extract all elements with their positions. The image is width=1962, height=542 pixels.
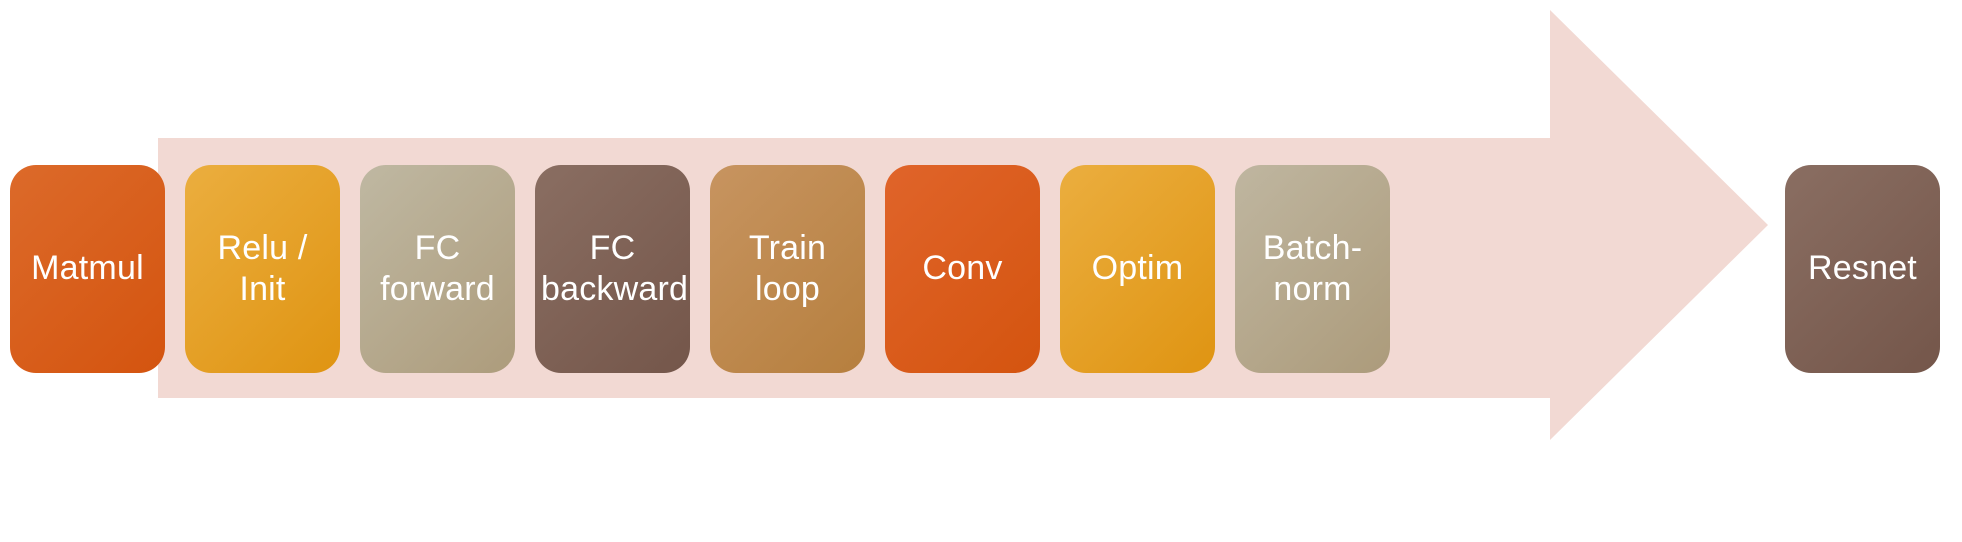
stage-matmul[interactable]: Matmul bbox=[10, 165, 165, 373]
stage-conv[interactable]: Conv bbox=[885, 165, 1040, 373]
stage-optim[interactable]: Optim bbox=[1060, 165, 1215, 373]
stage-relu-init[interactable]: Relu / Init bbox=[185, 165, 340, 373]
stage-label: Conv bbox=[891, 248, 1034, 289]
stage-label: Batch- norm bbox=[1241, 228, 1384, 311]
stage-label: FC forward bbox=[366, 228, 509, 311]
stage-label: Matmul bbox=[16, 248, 159, 289]
diagram-canvas: MatmulRelu / InitFC forwardFC backwardTr… bbox=[0, 0, 1962, 542]
stage-label: FC backward bbox=[541, 228, 684, 311]
stage-train-loop[interactable]: Train loop bbox=[710, 165, 865, 373]
stage-fc-forward[interactable]: FC forward bbox=[360, 165, 515, 373]
stage-label: Train loop bbox=[716, 228, 859, 311]
stage-label: Optim bbox=[1066, 248, 1209, 289]
stage-batchnorm[interactable]: Batch- norm bbox=[1235, 165, 1390, 373]
stage-resnet[interactable]: Resnet bbox=[1785, 165, 1940, 373]
stage-label: Resnet bbox=[1791, 248, 1934, 289]
stage-label: Relu / Init bbox=[191, 228, 334, 311]
stage-fc-backward[interactable]: FC backward bbox=[535, 165, 690, 373]
